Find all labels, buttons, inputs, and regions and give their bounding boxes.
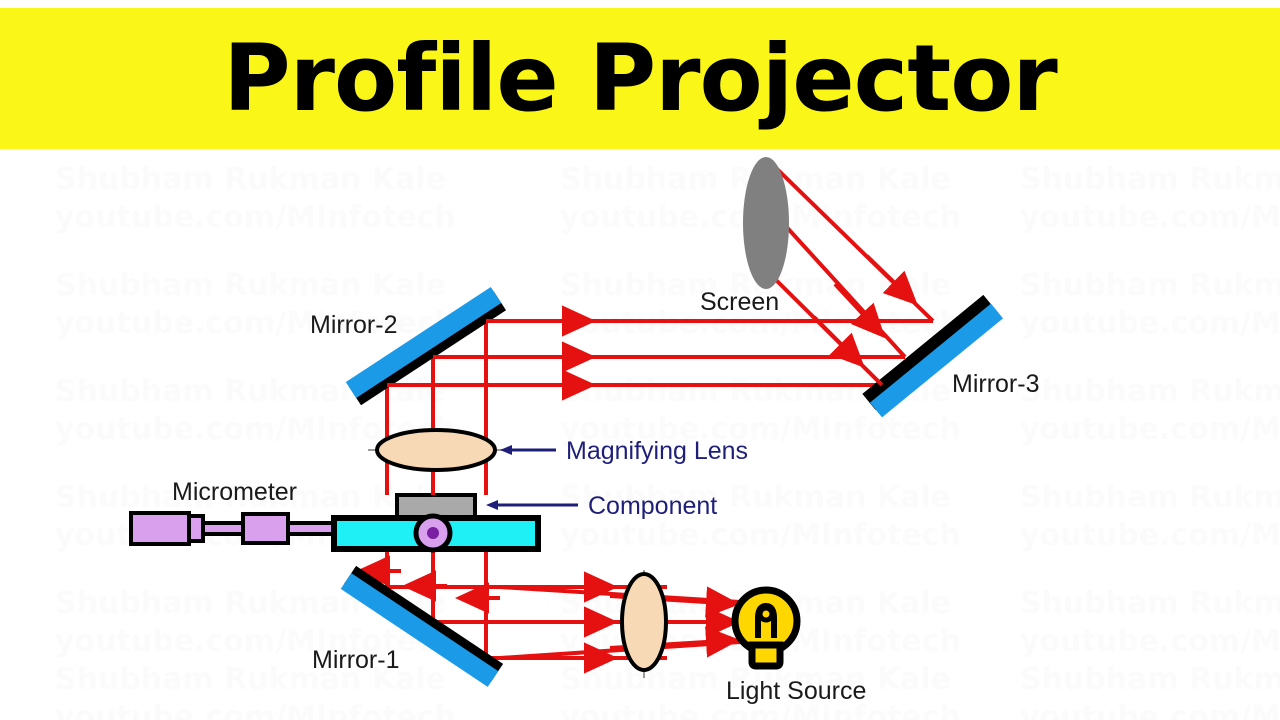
light-source-label: Light Source: [726, 677, 866, 705]
micrometer: [131, 513, 336, 544]
mirror-3-label: Mirror-3: [952, 370, 1040, 398]
mirror-2-label: Mirror-2: [310, 311, 398, 339]
component-label: Component: [588, 492, 717, 520]
micrometer-label: Micrometer: [172, 478, 297, 506]
magnifying-lens-annotation: [500, 445, 556, 455]
component-annotation: [486, 500, 578, 510]
condenser-lens: [622, 570, 666, 678]
profile-projector-figure: Shubham Rukman Kale Shubham Rukman Kale …: [0, 0, 1280, 720]
page-title: Profile Projector: [0, 8, 1280, 149]
mirror-1-label: Mirror-1: [312, 646, 400, 674]
ray-group-mirror3-to-screen: [773, 167, 933, 385]
specimen-stage: [334, 495, 538, 550]
screen: [743, 157, 789, 289]
magnifying-lens-label: Magnifying Lens: [566, 437, 748, 465]
screen-label: Screen: [700, 288, 779, 316]
light-source-bulb: [735, 590, 797, 666]
